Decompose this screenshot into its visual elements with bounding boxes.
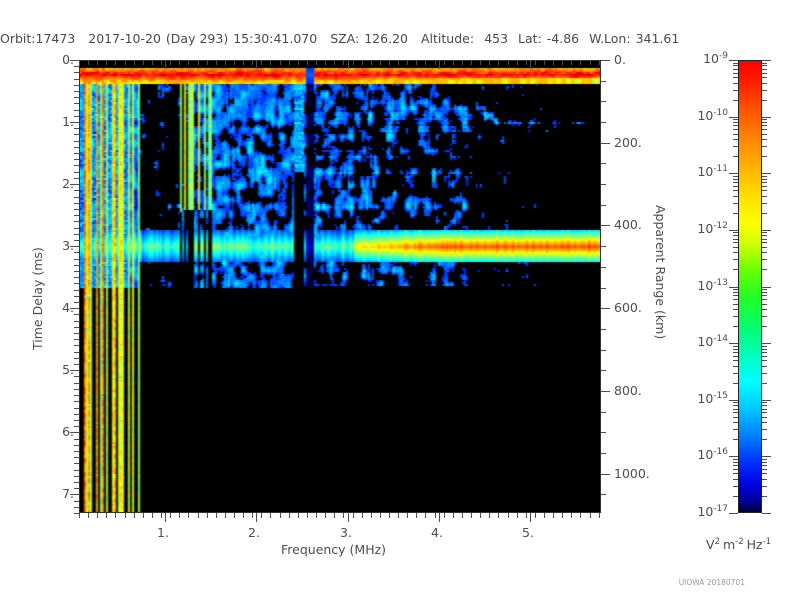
y-axis-left-tick-label: 2. — [52, 176, 74, 191]
y-axis-right-minor-tick — [601, 122, 606, 123]
y-axis-right-tick-label: 0. — [614, 52, 626, 67]
sza-value: 126.20 — [364, 31, 408, 46]
colorbar-minor-tick-right — [762, 469, 767, 470]
y-axis-right-tick-label: 800. — [614, 383, 642, 398]
colorbar-minor-tick-right — [762, 122, 767, 123]
x-axis-minor-tick-top — [143, 60, 144, 65]
x-axis-minor-tick — [234, 513, 235, 518]
colorbar-minor-tick-right — [762, 439, 767, 440]
y-axis-left-minor-tick — [74, 482, 79, 483]
colorbar-minor-tick-right — [762, 190, 767, 191]
x-axis-minor-tick — [526, 513, 527, 518]
colorbar-minor-tick-right — [762, 69, 767, 70]
colorbar-minor-tick-right — [762, 129, 767, 130]
x-axis-major-tick — [256, 513, 257, 522]
colorbar-minor-tick-right — [762, 176, 767, 177]
y-axis-left-minor-tick — [74, 339, 79, 340]
x-axis-minor-tick-top — [261, 60, 262, 65]
colorbar-minor-tick-right — [762, 100, 767, 101]
colorbar-minor-tick-right — [762, 299, 767, 300]
x-axis-minor-tick-top — [498, 60, 499, 65]
y-axis-left-minor-tick — [74, 358, 79, 359]
x-axis-minor-tick — [489, 513, 490, 518]
x-axis-tick-label: 1. — [157, 525, 169, 540]
x-axis-minor-tick-top — [553, 60, 554, 65]
y-axis-left-minor-tick — [74, 408, 79, 409]
x-axis-minor-tick-top — [462, 60, 463, 65]
y-axis-left-minor-tick — [74, 302, 79, 303]
colorbar-tick-label: 10-14 — [686, 334, 728, 349]
y-axis-right-minor-tick — [601, 246, 606, 247]
x-axis-minor-tick-top — [353, 60, 354, 65]
y-axis-left-minor-tick — [74, 389, 79, 390]
observation-date: 2017-10-20 — [88, 31, 161, 46]
colorbar-minor-tick-right — [762, 239, 767, 240]
y-axis-left-minor-tick — [74, 420, 79, 421]
x-axis-minor-tick — [188, 513, 189, 518]
x-axis-title: Frequency (MHz) — [281, 542, 386, 557]
colorbar-minor-tick-right — [762, 292, 767, 293]
y-axis-left-minor-tick — [74, 376, 79, 377]
x-axis-minor-tick — [371, 513, 372, 518]
x-axis-minor-tick-top — [88, 60, 89, 65]
colorbar-major-tick-left — [729, 513, 738, 514]
unit-m-exp: -2 — [735, 537, 743, 547]
x-axis-minor-tick-top — [115, 60, 116, 65]
colorbar-minor-tick-right — [762, 422, 767, 423]
x-axis-minor-tick-top — [444, 60, 445, 65]
x-axis-minor-tick-top — [535, 60, 536, 65]
y-axis-left-minor-tick — [74, 240, 79, 241]
x-axis-major-tick-top — [439, 60, 440, 69]
y-axis-left-minor-tick — [74, 134, 79, 135]
x-axis-minor-tick-top — [453, 60, 454, 65]
x-axis-minor-tick — [480, 513, 481, 518]
x-axis-major-tick — [530, 513, 531, 522]
x-axis-minor-tick-top — [571, 60, 572, 65]
colorbar-minor-tick-right — [762, 232, 767, 233]
y-axis-left-minor-tick — [74, 110, 79, 111]
colorbar-minor-tick-right — [762, 479, 767, 480]
x-axis-minor-tick-top — [416, 60, 417, 65]
y-axis-left-minor-tick — [74, 296, 79, 297]
y-axis-left-minor-tick — [74, 190, 79, 191]
x-axis-major-tick-top — [256, 60, 257, 69]
y-axis-left-minor-tick — [74, 383, 79, 384]
x-axis-minor-tick — [416, 513, 417, 518]
unit-v: V — [706, 537, 715, 552]
y-axis-right-minor-tick — [601, 184, 606, 185]
y-axis-right-major-tick — [601, 60, 610, 61]
colorbar-minor-tick-right — [762, 366, 767, 367]
x-axis-minor-tick — [425, 513, 426, 518]
y-axis-left-title: Time Delay (ms) — [30, 247, 45, 350]
x-axis-minor-tick — [225, 513, 226, 518]
x-axis-major-tick — [348, 513, 349, 522]
colorbar-minor-tick-right — [762, 269, 767, 270]
x-axis-tick-label: 2. — [248, 525, 260, 540]
x-axis-minor-tick-top — [517, 60, 518, 65]
y-axis-left-minor-tick — [74, 501, 79, 502]
y-axis-left-minor-tick — [74, 103, 79, 104]
y-axis-left-minor-tick — [74, 91, 79, 92]
x-axis-minor-tick-top — [198, 60, 199, 65]
x-axis-minor-tick-top — [562, 60, 563, 65]
colorbar-minor-tick-right — [762, 309, 767, 310]
y-axis-left-minor-tick — [74, 265, 79, 266]
y-axis-left-minor-tick — [74, 364, 79, 365]
colorbar-minor-tick-right — [762, 409, 767, 410]
y-axis-right-title: Apparent Range (km) — [653, 205, 668, 339]
x-axis-minor-tick — [143, 513, 144, 518]
y-axis-left-minor-tick — [74, 451, 79, 452]
colorbar-minor-tick-right — [762, 213, 767, 214]
y-axis-right-minor-tick — [601, 267, 606, 268]
x-axis-minor-tick-top — [508, 60, 509, 65]
x-axis-minor-tick-top — [152, 60, 153, 65]
producer-watermark: UIOWA 20180701 — [679, 578, 745, 587]
colorbar-minor-tick-right — [762, 496, 767, 497]
x-axis-minor-tick — [216, 513, 217, 518]
x-axis-minor-tick-top — [544, 60, 545, 65]
colorbar-major-tick-right — [762, 513, 771, 514]
y-axis-right-minor-tick — [601, 350, 606, 351]
y-axis-left-tick-label: 5. — [52, 362, 74, 377]
x-axis-minor-tick-top — [125, 60, 126, 65]
x-axis-minor-tick — [79, 513, 80, 518]
y-axis-left-minor-tick — [74, 228, 79, 229]
x-axis-minor-tick — [553, 513, 554, 518]
x-axis-minor-tick-top — [480, 60, 481, 65]
colorbar-minor-tick-right — [762, 473, 767, 474]
x-axis-minor-tick-top — [225, 60, 226, 65]
y-axis-left-minor-tick — [74, 277, 79, 278]
colorbar-major-tick-left — [729, 343, 738, 344]
colorbar-tick-label: 10-17 — [686, 504, 728, 519]
colorbar-minor-tick-right — [762, 259, 767, 260]
colorbar-major-tick-left — [729, 230, 738, 231]
x-axis-minor-tick-top — [207, 60, 208, 65]
x-axis-minor-tick-top — [580, 60, 581, 65]
x-axis-minor-tick — [389, 513, 390, 518]
y-axis-right-minor-tick — [601, 412, 606, 413]
orbit-label: Orbit: — [0, 31, 36, 46]
y-axis-left-minor-tick — [74, 290, 79, 291]
y-axis-right-minor-tick — [601, 329, 606, 330]
x-axis-minor-tick — [115, 513, 116, 518]
y-axis-left-minor-tick — [74, 457, 79, 458]
colorbar-minor-tick-right — [762, 459, 767, 460]
colorbar-tick-label: 10-12 — [686, 221, 728, 236]
colorbar-minor-tick-right — [762, 242, 767, 243]
colorbar-minor-tick-right — [762, 203, 767, 204]
x-axis-major-tick-top — [348, 60, 349, 69]
colorbar-minor-tick-right — [762, 356, 767, 357]
colorbar-major-tick-right — [762, 117, 771, 118]
colorbar-minor-tick-right — [762, 289, 767, 290]
colorbar-minor-tick-right — [762, 65, 767, 66]
y-axis-left-tick-label: 3. — [52, 238, 74, 253]
colorbar-major-tick-right — [762, 343, 771, 344]
y-axis-left-minor-tick — [74, 172, 79, 173]
colorbar-minor-tick-right — [762, 373, 767, 374]
unit-hz-exp: -1 — [763, 537, 771, 547]
x-axis-minor-tick-top — [280, 60, 281, 65]
y-axis-left-minor-tick — [74, 488, 79, 489]
y-axis-left-minor-tick — [74, 414, 79, 415]
y-axis-left-minor-tick — [74, 476, 79, 477]
x-axis-minor-tick-top — [526, 60, 527, 65]
y-axis-left-minor-tick — [74, 327, 79, 328]
colorbar-minor-tick-right — [762, 465, 767, 466]
colorbar-minor-tick-right — [762, 146, 767, 147]
y-axis-left-minor-tick — [74, 439, 79, 440]
y-axis-right-tick-label: 600. — [614, 300, 642, 315]
lat-label: Lat: — [518, 31, 542, 46]
x-axis-minor-tick-top — [362, 60, 363, 65]
colorbar-minor-tick-right — [762, 360, 767, 361]
x-axis-minor-tick — [462, 513, 463, 518]
y-axis-right-minor-tick — [601, 81, 606, 82]
colorbar-tick-label: 10-10 — [686, 108, 728, 123]
colorbar-tick-label: 10-11 — [686, 164, 728, 179]
y-axis-left-minor-tick — [74, 85, 79, 86]
colorbar-minor-tick-right — [762, 429, 767, 430]
colorbar-minor-tick-right — [762, 486, 767, 487]
colorbar-major-tick-left — [729, 400, 738, 401]
y-axis-left-minor-tick — [74, 259, 79, 260]
y-axis-left-minor-tick — [74, 283, 79, 284]
colorbar-minor-tick-right — [762, 196, 767, 197]
y-axis-left-minor-tick — [74, 165, 79, 166]
x-axis-minor-tick — [580, 513, 581, 518]
y-axis-left-minor-tick — [74, 271, 79, 272]
y-axis-left-minor-tick — [74, 221, 79, 222]
y-axis-left-tick-label: 4. — [52, 300, 74, 315]
x-axis-minor-tick — [325, 513, 326, 518]
sza-label: SZA: — [330, 31, 359, 46]
x-axis-minor-tick — [380, 513, 381, 518]
x-axis-minor-tick-top — [188, 60, 189, 65]
x-axis-minor-tick-top — [298, 60, 299, 65]
y-axis-left-tick-label: 6. — [52, 424, 74, 439]
y-axis-right-minor-tick — [601, 288, 606, 289]
y-axis-left-minor-tick — [74, 159, 79, 160]
x-axis-minor-tick — [125, 513, 126, 518]
colorbar-major-tick-left — [729, 117, 738, 118]
x-axis-minor-tick-top — [234, 60, 235, 65]
colorbar-major-tick-left — [729, 456, 738, 457]
x-axis-minor-tick — [134, 513, 135, 518]
x-axis-minor-tick-top — [289, 60, 290, 65]
x-axis-minor-tick-top — [307, 60, 308, 65]
y-axis-right-tick-label: 400. — [614, 217, 642, 232]
x-axis-minor-tick — [599, 513, 600, 518]
x-axis-major-tick-top — [530, 60, 531, 69]
x-axis-minor-tick — [198, 513, 199, 518]
x-axis-minor-tick — [289, 513, 290, 518]
x-axis-minor-tick — [544, 513, 545, 518]
y-axis-left-minor-tick — [74, 252, 79, 253]
y-axis-right-minor-tick — [601, 163, 606, 164]
unit-hz: Hz — [747, 537, 763, 552]
y-axis-left-minor-tick — [74, 470, 79, 471]
x-axis-major-tick-top — [165, 60, 166, 69]
y-axis-left-minor-tick — [74, 401, 79, 402]
colorbar-minor-tick-right — [762, 83, 767, 84]
x-axis-minor-tick-top — [590, 60, 591, 65]
wlon-label: W.Lon: — [589, 31, 630, 46]
y-axis-left-tick-label: 0. — [52, 52, 74, 67]
x-axis-minor-tick-top — [398, 60, 399, 65]
colorbar-major-tick-right — [762, 287, 771, 288]
y-axis-left-minor-tick — [74, 395, 79, 396]
x-axis-minor-tick — [444, 513, 445, 518]
y-axis-left-tick-label: 1. — [52, 114, 74, 129]
spectrogram-heatmap — [80, 61, 601, 513]
x-axis-minor-tick-top — [407, 60, 408, 65]
y-axis-left-minor-tick — [74, 321, 79, 322]
y-axis-left-minor-tick — [74, 197, 79, 198]
y-axis-left-minor-tick — [74, 345, 79, 346]
y-axis-left-minor-tick — [74, 352, 79, 353]
x-axis-minor-tick-top — [435, 60, 436, 65]
x-axis-tick-label: 5. — [522, 525, 534, 540]
colorbar-minor-tick-right — [762, 326, 767, 327]
colorbar-minor-tick-right — [762, 186, 767, 187]
colorbar-tick-label: 10-16 — [686, 447, 728, 462]
altitude-value: 453 — [474, 31, 508, 46]
colorbar-minor-tick-right — [762, 119, 767, 120]
x-axis-major-tick — [439, 513, 440, 522]
colorbar-major-tick-right — [762, 173, 771, 174]
x-axis-minor-tick — [407, 513, 408, 518]
x-axis-minor-tick-top — [425, 60, 426, 65]
x-axis-minor-tick-top — [325, 60, 326, 65]
colorbar-minor-tick-right — [762, 383, 767, 384]
colorbar-major-tick-right — [762, 230, 771, 231]
x-axis-minor-tick — [152, 513, 153, 518]
x-axis-minor-tick — [498, 513, 499, 518]
colorbar-minor-tick-right — [762, 73, 767, 74]
colorbar-tick-label: 10-9 — [686, 51, 728, 66]
x-axis-minor-tick-top — [471, 60, 472, 65]
colorbar-minor-tick-right — [762, 352, 767, 353]
x-axis-minor-tick-top — [489, 60, 490, 65]
colorbar-minor-tick-right — [762, 417, 767, 418]
x-axis-minor-tick — [161, 513, 162, 518]
x-axis-minor-tick — [280, 513, 281, 518]
x-axis-minor-tick-top — [270, 60, 271, 65]
x-axis-minor-tick-top — [106, 60, 107, 65]
y-axis-left-minor-tick — [74, 153, 79, 154]
colorbar-minor-tick-right — [762, 405, 767, 406]
colorbar-minor-tick-right — [762, 134, 767, 135]
x-axis-minor-tick-top — [134, 60, 135, 65]
x-axis-minor-tick — [508, 513, 509, 518]
x-axis-minor-tick — [316, 513, 317, 518]
x-axis-minor-tick — [243, 513, 244, 518]
y-axis-left-minor-tick — [74, 513, 79, 514]
x-axis-minor-tick-top — [216, 60, 217, 65]
y-axis-left-minor-tick — [74, 128, 79, 129]
colorbar-tick-label: 10-13 — [686, 278, 728, 293]
colorbar-major-tick-right — [762, 400, 771, 401]
y-axis-left-tick-label: 7. — [52, 486, 74, 501]
x-axis-minor-tick — [535, 513, 536, 518]
colorbar-minor-tick-right — [762, 235, 767, 236]
unit-v-exp: 2 — [715, 537, 720, 547]
y-axis-right-minor-tick — [601, 205, 606, 206]
x-axis-minor-tick — [207, 513, 208, 518]
x-axis-minor-tick-top — [179, 60, 180, 65]
x-axis-minor-tick — [435, 513, 436, 518]
x-axis-minor-tick-top — [97, 60, 98, 65]
y-axis-left-minor-tick — [74, 314, 79, 315]
colorbar-major-tick-left — [729, 60, 738, 61]
colorbar-minor-tick-right — [762, 349, 767, 350]
colorbar-major-tick-left — [729, 287, 738, 288]
x-axis-major-tick — [165, 513, 166, 522]
x-axis-minor-tick — [343, 513, 344, 518]
x-axis-minor-tick-top — [389, 60, 390, 65]
x-axis-minor-tick — [261, 513, 262, 518]
x-axis-minor-tick — [517, 513, 518, 518]
y-axis-left-minor-tick — [74, 141, 79, 142]
x-axis-minor-tick — [252, 513, 253, 518]
y-axis-right-minor-tick — [601, 494, 606, 495]
unit-m: m — [723, 537, 735, 552]
x-axis-minor-tick — [398, 513, 399, 518]
y-axis-right-tick-label: 200. — [614, 135, 642, 150]
x-axis-minor-tick-top — [316, 60, 317, 65]
x-axis-minor-tick — [106, 513, 107, 518]
y-axis-left-minor-tick — [74, 445, 79, 446]
y-axis-left-minor-tick — [74, 426, 79, 427]
x-axis-minor-tick — [362, 513, 363, 518]
x-axis-tick-label: 3. — [340, 525, 352, 540]
colorbar-major-tick-right — [762, 60, 771, 61]
x-axis-minor-tick — [571, 513, 572, 518]
x-axis-minor-tick — [97, 513, 98, 518]
x-axis-minor-tick — [270, 513, 271, 518]
lat-value: -4.86 — [547, 31, 579, 46]
colorbar-minor-tick-right — [762, 346, 767, 347]
y-axis-right-major-tick — [601, 308, 610, 309]
x-axis-minor-tick — [353, 513, 354, 518]
altitude-label: Altitude: — [421, 31, 474, 46]
colorbar-minor-tick-right — [762, 139, 767, 140]
colorbar-major-tick-right — [762, 456, 771, 457]
colorbar-minor-tick-right — [762, 304, 767, 305]
colorbar-minor-tick-right — [762, 63, 767, 64]
x-axis-minor-tick — [88, 513, 89, 518]
x-axis-minor-tick-top — [243, 60, 244, 65]
colorbar-minor-tick-right — [762, 252, 767, 253]
orbit-value: 17473 — [36, 31, 76, 46]
y-axis-right-major-tick — [601, 225, 610, 226]
x-axis-minor-tick-top — [79, 60, 80, 65]
x-axis-minor-tick-top — [161, 60, 162, 65]
x-axis-minor-tick — [334, 513, 335, 518]
colorbar-minor-tick-right — [762, 77, 767, 78]
y-axis-left-minor-tick — [74, 209, 79, 210]
y-axis-left-minor-tick — [74, 178, 79, 179]
x-axis-minor-tick-top — [380, 60, 381, 65]
x-axis-minor-tick-top — [343, 60, 344, 65]
y-axis-left-minor-tick — [74, 215, 79, 216]
colorbar-minor-tick-right — [762, 402, 767, 403]
